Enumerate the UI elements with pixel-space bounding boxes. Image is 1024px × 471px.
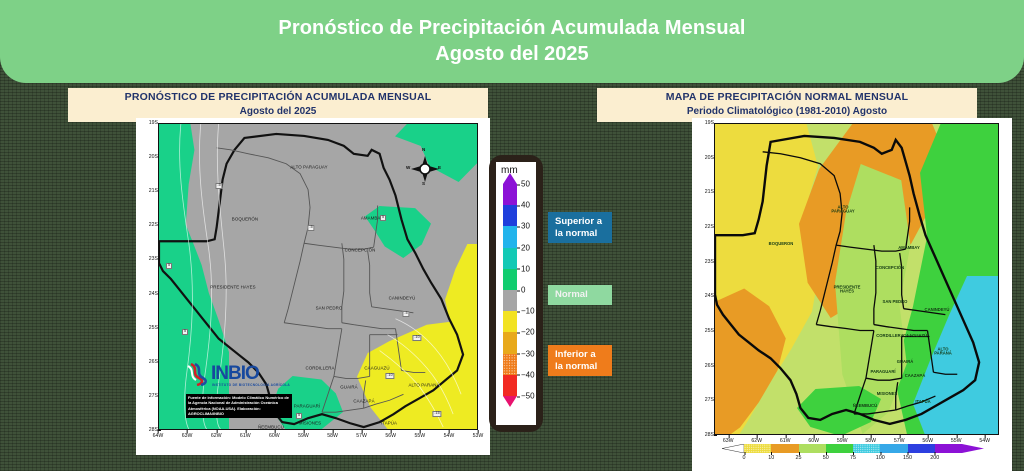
colorbar-gradient-strip bbox=[503, 184, 517, 396]
left-map-x-tick: 54W bbox=[444, 433, 455, 439]
colorbar-tick: 30 bbox=[521, 222, 530, 231]
right-panel-header-line2: Periodo Climatológico (1981-2010) Agosto bbox=[605, 105, 969, 118]
left-map-label-canindeyu: CANINDEYÚ bbox=[389, 297, 416, 302]
legend-chip-line: Inferior a bbox=[555, 349, 605, 361]
left-map-label-misiones: MISIONES bbox=[299, 422, 321, 427]
left-map-x-tick: 57W bbox=[356, 433, 367, 439]
inbio-logo-text: INBIO bbox=[211, 363, 259, 385]
page-title-banner: Pronóstico de Precipitación Acumulada Me… bbox=[0, 0, 1024, 83]
legend-chip-line: Superior a bbox=[555, 216, 605, 228]
anomaly-colorbar: mm 50403020100−10−20−30−40−50 bbox=[496, 162, 536, 425]
left-map-label-cordillera: CORDILLERA bbox=[305, 367, 334, 372]
left-map-label-presidente-hayes: PRESIDENTE HAYES bbox=[210, 286, 255, 291]
dna-helix-icon bbox=[187, 362, 211, 386]
left-map-x-tick: 53W bbox=[473, 433, 484, 439]
right-colorbar-segment bbox=[880, 444, 907, 453]
left-map-y-axis: 19S20S21S22S23S24S25S26S27S28S bbox=[136, 123, 158, 430]
colorbar-segment bbox=[503, 375, 517, 396]
colorbar-segment bbox=[503, 354, 517, 375]
left-map-label-concepcion: CONCEPCIÓN bbox=[345, 249, 376, 254]
left-map-label-neembucu: ÑEEMBUCÚ bbox=[258, 426, 284, 430]
right-map-y-tick: 21S bbox=[705, 189, 714, 195]
colorbar-tick-labels: 50403020100−10−20−30−40−50 bbox=[518, 184, 542, 396]
left-map-contour-value: -15 bbox=[432, 411, 441, 417]
left-map-label-itapua: ITAPÚA bbox=[381, 422, 397, 427]
left-map-x-axis: 64W63W62W61W60W59W58W57W56W55W54W53W bbox=[158, 433, 478, 447]
right-colorbar-left-arrow-icon bbox=[722, 444, 744, 453]
right-panel-header-line1: MAPA DE PRECIPITACIÓN NORMAL MENSUAL bbox=[605, 91, 969, 105]
left-map-x-tick: 63W bbox=[182, 433, 193, 439]
right-map-y-tick: 24S bbox=[705, 293, 714, 299]
right-colorbar-tick: 200 bbox=[930, 455, 939, 461]
left-map-x-tick: 60W bbox=[269, 433, 280, 439]
right-colorbar-right-arrow-icon bbox=[962, 444, 984, 453]
right-panel-header: MAPA DE PRECIPITACIÓN NORMAL MENSUAL Per… bbox=[597, 88, 977, 122]
forecast-anomaly-map-panel: 19S20S21S22S23S24S25S26S27S28S 64W63W62W… bbox=[136, 118, 490, 455]
right-map-label-cordillera: CORDILLERA bbox=[876, 334, 903, 338]
left-panel-header-line1: PRONÓSTICO DE PRECIPITACIÓN ACUMULADA ME… bbox=[76, 91, 480, 105]
left-map-contour-value: -10 bbox=[412, 335, 421, 341]
colorbar-segment bbox=[503, 205, 517, 226]
climatology-normal-map-panel: 19S20S21S22S23S24S25S26S27S28S 63W62W61W… bbox=[692, 118, 1012, 471]
compass-south-label: S bbox=[422, 181, 425, 186]
legend-chip-below-normal: Inferior ala normal bbox=[548, 345, 612, 376]
left-map-label-alto-paraguay: ALTO PARAGUAY bbox=[290, 166, 327, 171]
left-map-y-tick: 26S bbox=[149, 359, 158, 365]
left-map-contour-value: -5 bbox=[402, 311, 409, 317]
inbio-logo-tagline: INSTITUTO DE BIOTECNOLOGÍA AGRÍCOLA bbox=[212, 383, 290, 387]
left-map-x-tick: 58W bbox=[327, 433, 338, 439]
right-colorbar-segment bbox=[744, 444, 771, 453]
right-map-y-tick: 27S bbox=[705, 397, 714, 403]
anomaly-colorbar-capsule: mm 50403020100−10−20−30−40−50 bbox=[489, 155, 543, 432]
colorbar-bottom-arrow-icon bbox=[503, 396, 517, 407]
colorbar-tick: 40 bbox=[521, 201, 530, 210]
right-map-label-canindeyu: CANINDEYÚ bbox=[925, 308, 950, 312]
right-colorbar-tick: 25 bbox=[796, 455, 802, 461]
right-map-y-tick: 23S bbox=[705, 259, 714, 265]
colorbar-top-arrow-icon bbox=[503, 173, 517, 184]
colorbar-segment bbox=[503, 332, 517, 353]
colorbar-tick: −10 bbox=[521, 307, 535, 316]
left-map-x-tick: 61W bbox=[240, 433, 251, 439]
colorbar-tick: −50 bbox=[521, 392, 535, 401]
legend-chip-line: Normal bbox=[555, 289, 605, 301]
right-colorbar-tick: 0 bbox=[743, 455, 746, 461]
left-map-y-tick: 20S bbox=[149, 154, 158, 160]
left-map-x-tick: 64W bbox=[153, 433, 164, 439]
colorbar-segment bbox=[503, 290, 517, 311]
right-map-label-alto-paraguay: ALTO PARAGUAY bbox=[831, 206, 854, 215]
left-map-y-tick: 21S bbox=[149, 188, 158, 194]
right-map-boundaries bbox=[715, 124, 998, 434]
left-map-y-tick: 23S bbox=[149, 256, 158, 262]
colorbar-tick: −20 bbox=[521, 328, 535, 337]
right-colorbar-segment bbox=[771, 444, 798, 453]
right-map-colorbar: 010255075100150200 bbox=[722, 444, 990, 466]
compass-west-label: W bbox=[406, 165, 410, 170]
right-map-label-itapua: ITAPÚA bbox=[915, 400, 930, 404]
right-map-label-amambay: AMAMBAY bbox=[898, 246, 919, 250]
left-map-label-guaira: GUAIRÁ bbox=[340, 386, 357, 391]
right-colorbar-segment bbox=[799, 444, 826, 453]
left-panel-header-line2: Agosto del 2025 bbox=[76, 105, 480, 118]
left-map-x-tick: 55W bbox=[414, 433, 425, 439]
right-map-label-misiones: MISIONES bbox=[877, 392, 897, 396]
right-colorbar-segment bbox=[908, 444, 935, 453]
left-map-label-caazapa: CAAZAPÁ bbox=[353, 400, 374, 405]
left-map-contour-value: -5 bbox=[215, 183, 222, 189]
right-colorbar-segment bbox=[935, 444, 962, 453]
inbio-logo: INBIO INSTITUTO DE BIOTECNOLOGÍA AGRÍCOL… bbox=[187, 362, 309, 392]
legend-chip-line: la normal bbox=[555, 228, 605, 240]
right-colorbar-tick: 100 bbox=[876, 455, 885, 461]
left-panel-header: PRONÓSTICO DE PRECIPITACIÓN ACUMULADA ME… bbox=[68, 88, 488, 122]
page-root: Pronóstico de Precipitación Acumulada Me… bbox=[0, 0, 1024, 471]
banner-title-line2: Agosto del 2025 bbox=[435, 41, 588, 68]
left-map-contour-value: -10 bbox=[385, 373, 394, 379]
colorbar-tick: −30 bbox=[521, 349, 535, 358]
right-map-label-san-pedro: SAN PEDRO bbox=[883, 300, 908, 304]
right-colorbar-segment bbox=[853, 444, 880, 453]
right-map-label-caazapa: CAAZAPÁ bbox=[905, 374, 925, 378]
right-colorbar-tick: 75 bbox=[850, 455, 856, 461]
right-colorbar-tick: 10 bbox=[768, 455, 774, 461]
left-map-y-tick: 22S bbox=[149, 222, 158, 228]
right-map-y-tick: 22S bbox=[705, 224, 714, 230]
legend-chip-normal: Normal bbox=[548, 285, 612, 305]
right-map-label-caaguazu: CAAGUAZÚ bbox=[903, 334, 927, 338]
left-map-x-tick: 59W bbox=[298, 433, 309, 439]
legend-chip-above-normal: Superior ala normal bbox=[548, 212, 612, 243]
data-source-note: Fuente de información: Modelo Climático … bbox=[186, 394, 292, 418]
colorbar-segment bbox=[503, 311, 517, 332]
compass-east-label: E bbox=[438, 165, 441, 170]
colorbar-tick: 10 bbox=[521, 264, 530, 273]
right-map-y-tick: 19S bbox=[705, 120, 714, 126]
colorbar-tick: 20 bbox=[521, 243, 530, 252]
right-map-label-paraguari: PARAGUARÍ bbox=[870, 370, 895, 374]
right-map-label-neembucu: ÑEEMBUCÚ bbox=[853, 404, 877, 408]
colorbar-segment bbox=[503, 269, 517, 290]
colorbar-segment bbox=[503, 184, 517, 205]
left-map-y-tick: 24S bbox=[149, 291, 158, 297]
right-map-y-axis: 19S20S21S22S23S24S25S26S27S28S bbox=[692, 123, 714, 435]
colorbar-segment bbox=[503, 248, 517, 269]
compass-rose-icon: N S E W bbox=[407, 148, 443, 188]
left-map-y-tick: 27S bbox=[149, 393, 158, 399]
left-map-label-boqueron: BOQUERÓN bbox=[232, 218, 258, 223]
right-map-label-boqueron: BOQUERON bbox=[769, 242, 794, 246]
left-map-contour-value: 5 bbox=[182, 329, 188, 335]
left-map-contour-value: -5 bbox=[307, 225, 314, 231]
left-map-y-tick: 19S bbox=[149, 120, 158, 126]
right-map-y-tick: 25S bbox=[705, 328, 714, 334]
colorbar-tick: −40 bbox=[521, 370, 535, 379]
right-colorbar-segment bbox=[826, 444, 853, 453]
left-map-contour-value: 5 bbox=[296, 413, 302, 419]
left-map-contour-value: 5 bbox=[166, 263, 172, 269]
right-map-label-concepcion: CONCEPCIÓN bbox=[876, 266, 904, 270]
left-map-x-tick: 56W bbox=[385, 433, 396, 439]
left-map-contour-value: 5 bbox=[380, 215, 386, 221]
right-map-plot-area: BOQUERON ALTO PARAGUAY PRESIDENTE HAYES … bbox=[714, 123, 999, 435]
banner-title-line1: Pronóstico de Precipitación Acumulada Me… bbox=[278, 16, 745, 41]
left-map-label-san-pedro: SAN PEDRO bbox=[316, 307, 343, 312]
right-map-y-tick: 20S bbox=[705, 155, 714, 161]
right-map-label-alto-parana: ALTO PARANÁ bbox=[934, 348, 952, 357]
right-map-y-tick: 26S bbox=[705, 363, 714, 369]
left-map-label-alto-parana: ALTO PARANÁ bbox=[408, 384, 439, 389]
colorbar-segment bbox=[503, 226, 517, 247]
right-map-label-guaira: GUAIRÁ bbox=[897, 360, 914, 364]
left-map-y-tick: 25S bbox=[149, 325, 158, 331]
compass-north-label: N bbox=[422, 147, 425, 152]
right-map-y-tick: 28S bbox=[705, 432, 714, 438]
legend-chip-line: la normal bbox=[555, 361, 605, 373]
right-colorbar-tick: 150 bbox=[903, 455, 912, 461]
colorbar-tick: 50 bbox=[521, 180, 530, 189]
left-map-plot-area: ALTO PARAGUAY BOQUERÓN PRESIDENTE HAYES … bbox=[158, 123, 478, 430]
left-map-label-paraguari: PARAGUARÍ bbox=[294, 405, 320, 410]
left-map-x-tick: 62W bbox=[211, 433, 222, 439]
colorbar-tick: 0 bbox=[521, 286, 525, 295]
right-map-label-presidente-hayes: PRESIDENTE HAYES bbox=[834, 286, 861, 295]
left-map-label-caaguazu: CAAGUAZÚ bbox=[364, 367, 389, 372]
right-colorbar-tick: 50 bbox=[823, 455, 829, 461]
